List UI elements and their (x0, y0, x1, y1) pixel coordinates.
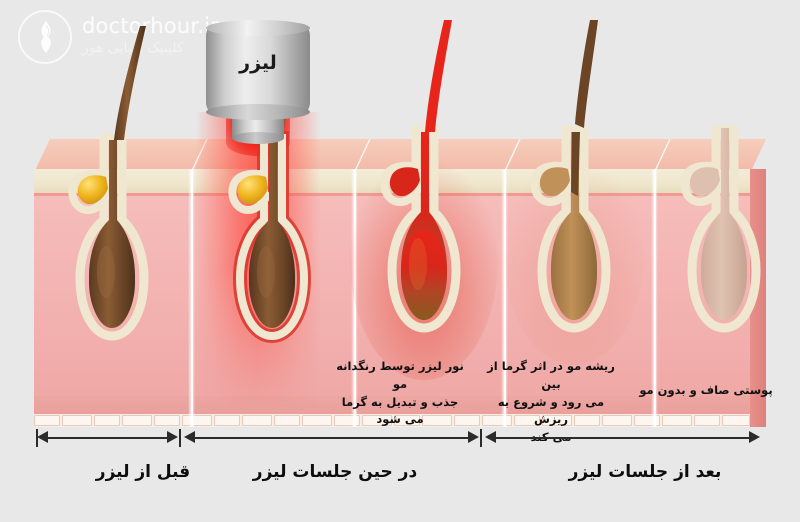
stage-label-during: در حین جلسات لیزر (190, 462, 480, 482)
fat-cell (94, 415, 120, 426)
dim-tick-1 (179, 429, 181, 447)
caption-line: می رود و شروع به ریزش (480, 394, 622, 430)
follicle-weakened (498, 20, 648, 380)
fat-cell (214, 415, 240, 426)
laser-top-cap (206, 20, 310, 36)
stage-label-after: بعد از جلسات لیزر (500, 462, 790, 482)
dim-line-before (46, 437, 174, 439)
follicle-empty (648, 20, 798, 380)
stage-dimension-arrows (34, 428, 774, 448)
follicle-normal (36, 20, 186, 410)
laser-handpiece[interactable]: لیزر (206, 26, 310, 146)
caption-line: پوستی صاف و بدون مو (634, 382, 778, 400)
fat-cell (242, 415, 272, 426)
caption-hairless-skin: پوستی صاف و بدون مو (634, 382, 778, 400)
arrow-head-right-1 (167, 431, 178, 443)
panel-divider-line-1 (191, 169, 193, 427)
follicle-heated (348, 20, 498, 380)
caption-line: نور لیزر توسط رنگدانه مو (330, 358, 470, 394)
fat-cell (154, 415, 180, 426)
caption-line: می شود (330, 411, 470, 429)
dim-tick-2 (480, 429, 482, 447)
fat-cell (122, 415, 152, 426)
caption-line: ریشه مو در اثر گرما از بین (480, 358, 622, 394)
fat-cell (302, 415, 332, 426)
laser-label: لیزر (206, 52, 310, 74)
fat-cell (722, 415, 750, 426)
dim-line-after (494, 437, 756, 439)
infographic-canvas: doctorhour.ir کلینیک زیبایی هور (0, 0, 800, 522)
caption-pigment-absorbs-heat: نور لیزر توسط رنگدانه مو جذب و تبدیل به … (330, 358, 470, 429)
dim-line-during (193, 437, 475, 439)
arrow-head-right-3 (749, 431, 760, 443)
caption-line: جذب و تبدیل به گرما (330, 394, 470, 412)
fat-cell (694, 415, 720, 426)
fat-cell (62, 415, 92, 426)
fat-cell (34, 415, 60, 426)
fat-cell (662, 415, 692, 426)
laser-aperture (232, 132, 284, 144)
laser-bottom-rim (206, 104, 310, 120)
arrow-head-right-2 (468, 431, 479, 443)
fat-cell (274, 415, 300, 426)
fat-cell (182, 415, 212, 426)
